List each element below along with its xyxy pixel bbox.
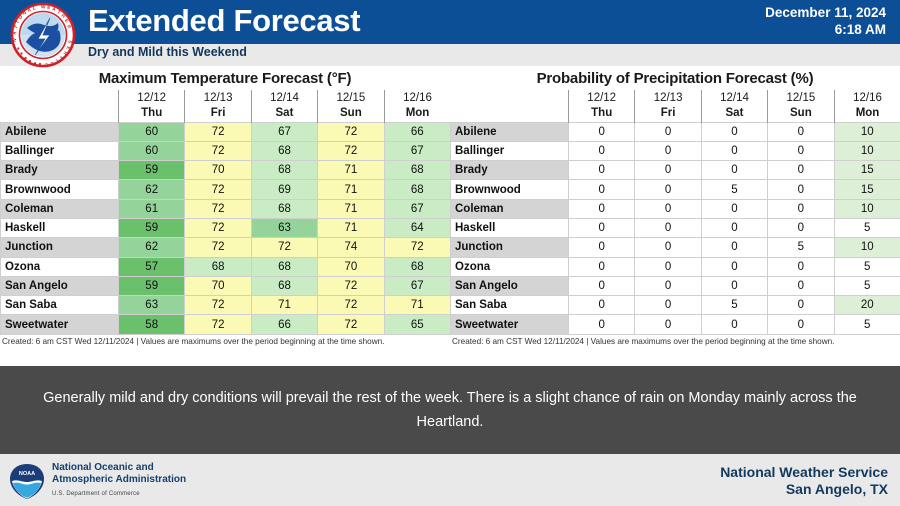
city-column-header-pop-2 — [451, 106, 569, 122]
forecast-value-cell: 10 — [834, 238, 900, 257]
table-row: San Saba005020 — [451, 296, 900, 315]
pop-col-date-4: 12/16 — [834, 90, 900, 106]
forecast-value-cell: 15 — [834, 180, 900, 199]
forecast-value-cell: 0 — [701, 199, 767, 218]
row-city-label: Sweetwater — [1, 315, 119, 334]
table-row: Brady5970687168 — [1, 161, 451, 180]
noaa-line-3: U.S. Department of Commerce — [52, 486, 186, 500]
nws-office-name: National Weather Service — [720, 464, 888, 481]
forecast-value-cell: 64 — [384, 218, 450, 237]
temperature-footnote: Created: 6 am CST Wed 12/11/2024 | Value… — [0, 335, 450, 349]
forecast-value-cell: 72 — [185, 218, 251, 237]
forecast-value-cell: 65 — [384, 315, 450, 334]
forecast-value-cell: 0 — [635, 161, 701, 180]
forecast-value-cell: 68 — [384, 161, 450, 180]
pop-col-date-1: 12/13 — [635, 90, 701, 106]
forecast-value-cell: 60 — [119, 141, 185, 160]
row-city-label: San Saba — [1, 296, 119, 315]
noaa-agency-text: National Oceanic and Atmospheric Adminis… — [52, 462, 186, 500]
forecast-value-cell: 63 — [251, 218, 317, 237]
precipitation-table-head: 12/12 12/13 12/14 12/15 12/16 Thu Fri Sa… — [451, 90, 900, 122]
forecast-value-cell: 72 — [185, 315, 251, 334]
forecast-value-cell: 0 — [701, 257, 767, 276]
forecast-value-cell: 0 — [701, 141, 767, 160]
table-row: Coleman000010 — [451, 199, 900, 218]
col-dow-4: Mon — [384, 106, 450, 122]
summary-box: Generally mild and dry conditions will p… — [0, 366, 900, 454]
forecast-value-cell: 68 — [251, 161, 317, 180]
col-dow-3: Sun — [318, 106, 384, 122]
forecast-value-cell: 0 — [569, 296, 635, 315]
forecast-value-cell: 68 — [251, 257, 317, 276]
forecast-value-cell: 72 — [318, 296, 384, 315]
forecast-tables: Maximum Temperature Forecast (°F) 12/12 … — [0, 66, 900, 366]
forecast-value-cell: 70 — [185, 276, 251, 295]
forecast-value-cell: 0 — [701, 122, 767, 141]
row-city-label: Brownwood — [1, 180, 119, 199]
forecast-value-cell: 0 — [635, 296, 701, 315]
forecast-value-cell: 66 — [251, 315, 317, 334]
noaa-line-1: National Oceanic and — [52, 462, 186, 474]
forecast-value-cell: 0 — [635, 257, 701, 276]
forecast-value-cell: 72 — [185, 141, 251, 160]
forecast-value-cell: 5 — [834, 315, 900, 334]
forecast-value-cell: 0 — [768, 218, 834, 237]
forecast-value-cell: 0 — [569, 141, 635, 160]
table-row: Abilene6072677266 — [1, 122, 451, 141]
forecast-value-cell: 68 — [251, 199, 317, 218]
forecast-value-cell: 0 — [569, 122, 635, 141]
row-city-label: San Angelo — [451, 276, 569, 295]
forecast-value-cell: 67 — [384, 141, 450, 160]
forecast-value-cell: 0 — [635, 276, 701, 295]
forecast-value-cell: 0 — [701, 218, 767, 237]
table-row: Coleman6172687167 — [1, 199, 451, 218]
precipitation-footnote: Created: 6 am CST Wed 12/11/2024 | Value… — [450, 335, 900, 349]
col-date-1: 12/13 — [185, 90, 251, 106]
forecast-value-cell: 0 — [701, 315, 767, 334]
nws-office-text: National Weather Service San Angelo, TX — [720, 464, 888, 498]
row-city-label: Brady — [1, 161, 119, 180]
forecast-value-cell: 72 — [318, 141, 384, 160]
table-row: Sweetwater5872667265 — [1, 315, 451, 334]
forecast-value-cell: 68 — [185, 257, 251, 276]
forecast-value-cell: 0 — [569, 238, 635, 257]
forecast-value-cell: 70 — [318, 257, 384, 276]
row-city-label: Brownwood — [451, 180, 569, 199]
forecast-value-cell: 72 — [185, 296, 251, 315]
col-dow-1: Fri — [185, 106, 251, 122]
noaa-seal-icon: NOAA — [8, 462, 46, 500]
subtitle: Dry and Mild this Weekend — [88, 45, 247, 59]
forecast-value-cell: 58 — [119, 315, 185, 334]
forecast-value-cell: 59 — [119, 276, 185, 295]
forecast-value-cell: 71 — [318, 199, 384, 218]
forecast-value-cell: 15 — [834, 161, 900, 180]
precipitation-table-body: Abilene000010Ballinger000010Brady000015B… — [451, 122, 900, 334]
precipitation-table: 12/12 12/13 12/14 12/15 12/16 Thu Fri Sa… — [450, 90, 900, 335]
row-city-label: Abilene — [1, 122, 119, 141]
forecast-value-cell: 0 — [768, 180, 834, 199]
col-date-3: 12/15 — [318, 90, 384, 106]
row-city-label: Brady — [451, 161, 569, 180]
forecast-value-cell: 0 — [635, 218, 701, 237]
forecast-value-cell: 0 — [569, 218, 635, 237]
forecast-value-cell: 63 — [119, 296, 185, 315]
forecast-value-cell: 0 — [768, 122, 834, 141]
forecast-value-cell: 70 — [185, 161, 251, 180]
forecast-value-cell: 62 — [119, 180, 185, 199]
table-row: Ozona5768687068 — [1, 257, 451, 276]
row-city-label: San Angelo — [1, 276, 119, 295]
forecast-value-cell: 0 — [569, 315, 635, 334]
pop-col-date-0: 12/12 — [569, 90, 635, 106]
forecast-value-cell: 0 — [701, 161, 767, 180]
forecast-value-cell: 0 — [635, 180, 701, 199]
header-row-dates-pop: 12/12 12/13 12/14 12/15 12/16 — [451, 90, 900, 106]
col-date-4: 12/16 — [384, 90, 450, 106]
pop-col-dow-3: Sun — [768, 106, 834, 122]
table-row: San Angelo00005 — [451, 276, 900, 295]
forecast-value-cell: 5 — [768, 238, 834, 257]
forecast-value-cell: 0 — [569, 180, 635, 199]
pop-col-date-3: 12/15 — [768, 90, 834, 106]
temperature-table-head: 12/12 12/13 12/14 12/15 12/16 Thu Fri Sa… — [1, 90, 451, 122]
svg-text:NOAA: NOAA — [19, 471, 35, 477]
forecast-value-cell: 72 — [185, 122, 251, 141]
noaa-line-2: Atmospheric Administration — [52, 474, 186, 486]
header-datetime: December 11, 2024 6:18 AM — [765, 4, 886, 38]
summary-text: Generally mild and dry conditions will p… — [22, 386, 878, 434]
forecast-value-cell: 10 — [834, 122, 900, 141]
temperature-panel-title: Maximum Temperature Forecast (°F) — [0, 66, 450, 90]
forecast-value-cell: 59 — [119, 218, 185, 237]
pop-col-dow-0: Thu — [569, 106, 635, 122]
table-row: Brownwood6272697168 — [1, 180, 451, 199]
row-city-label: San Saba — [451, 296, 569, 315]
row-city-label: Sweetwater — [451, 315, 569, 334]
forecast-value-cell: 0 — [635, 199, 701, 218]
row-city-label: Coleman — [451, 199, 569, 218]
row-city-label: Junction — [1, 238, 119, 257]
header-time: 6:18 AM — [765, 21, 886, 38]
table-row: Ballinger6072687267 — [1, 141, 451, 160]
forecast-value-cell: 71 — [384, 296, 450, 315]
forecast-value-cell: 72 — [318, 276, 384, 295]
forecast-value-cell: 66 — [384, 122, 450, 141]
forecast-value-cell: 0 — [768, 141, 834, 160]
row-city-label: Abilene — [451, 122, 569, 141]
forecast-value-cell: 0 — [768, 161, 834, 180]
forecast-value-cell: 0 — [768, 296, 834, 315]
forecast-value-cell: 0 — [635, 315, 701, 334]
col-dow-0: Thu — [119, 106, 185, 122]
city-column-header-pop — [451, 90, 569, 106]
forecast-value-cell: 57 — [119, 257, 185, 276]
subheader-bar: Dry and Mild this Weekend — [0, 44, 900, 66]
footer-bar: NOAA National Oceanic and Atmospheric Ad… — [0, 454, 900, 506]
forecast-value-cell: 68 — [251, 141, 317, 160]
table-row: Haskell00005 — [451, 218, 900, 237]
row-city-label: Ozona — [451, 257, 569, 276]
forecast-value-cell: 5 — [834, 218, 900, 237]
header-bar: NATIONAL WEATHER SERVICE N A T I O N A L… — [0, 0, 900, 44]
precipitation-panel-title: Probability of Precipitation Forecast (%… — [450, 66, 900, 90]
forecast-value-cell: 71 — [318, 218, 384, 237]
page-title: Extended Forecast — [88, 0, 360, 43]
forecast-value-cell: 5 — [701, 180, 767, 199]
city-column-header — [1, 90, 119, 106]
forecast-value-cell: 0 — [768, 276, 834, 295]
row-city-label: Ballinger — [1, 141, 119, 160]
row-city-label: Ballinger — [451, 141, 569, 160]
forecast-value-cell: 0 — [635, 238, 701, 257]
header-row-dates: 12/12 12/13 12/14 12/15 12/16 — [1, 90, 451, 106]
temperature-table: 12/12 12/13 12/14 12/15 12/16 Thu Fri Sa… — [0, 90, 451, 335]
forecast-value-cell: 0 — [635, 122, 701, 141]
precipitation-panel: Probability of Precipitation Forecast (%… — [450, 66, 900, 366]
forecast-value-cell: 69 — [251, 180, 317, 199]
forecast-value-cell: 0 — [569, 257, 635, 276]
table-row: Junction000510 — [451, 238, 900, 257]
forecast-value-cell: 0 — [701, 238, 767, 257]
header-date: December 11, 2024 — [765, 4, 886, 21]
table-row: Brady000015 — [451, 161, 900, 180]
forecast-value-cell: 68 — [384, 180, 450, 199]
forecast-value-cell: 20 — [834, 296, 900, 315]
forecast-value-cell: 67 — [251, 122, 317, 141]
forecast-value-cell: 72 — [185, 238, 251, 257]
table-row: Brownwood005015 — [451, 180, 900, 199]
table-row: Abilene000010 — [451, 122, 900, 141]
forecast-value-cell: 60 — [119, 122, 185, 141]
row-city-label: Haskell — [1, 218, 119, 237]
pop-col-dow-4: Mon — [834, 106, 900, 122]
nws-seal-icon: NATIONAL WEATHER SERVICE N A T I O N A L… — [6, 2, 80, 68]
table-row: Sweetwater00005 — [451, 315, 900, 334]
forecast-value-cell: 71 — [318, 180, 384, 199]
forecast-value-cell: 0 — [768, 315, 834, 334]
forecast-value-cell: 0 — [768, 257, 834, 276]
temperature-panel: Maximum Temperature Forecast (°F) 12/12 … — [0, 66, 450, 366]
forecast-value-cell: 0 — [569, 276, 635, 295]
table-row: San Saba6372717271 — [1, 296, 451, 315]
forecast-value-cell: 0 — [569, 199, 635, 218]
col-date-2: 12/14 — [251, 90, 317, 106]
forecast-value-cell: 0 — [635, 141, 701, 160]
forecast-value-cell: 72 — [384, 238, 450, 257]
pop-col-dow-1: Fri — [635, 106, 701, 122]
forecast-value-cell: 74 — [318, 238, 384, 257]
forecast-value-cell: 0 — [569, 161, 635, 180]
temperature-table-body: Abilene6072677266Ballinger6072687267Brad… — [1, 122, 451, 334]
table-row: Ozona00005 — [451, 257, 900, 276]
forecast-value-cell: 72 — [185, 180, 251, 199]
forecast-value-cell: 72 — [251, 238, 317, 257]
forecast-value-cell: 61 — [119, 199, 185, 218]
forecast-value-cell: 72 — [185, 199, 251, 218]
forecast-value-cell: 10 — [834, 199, 900, 218]
forecast-value-cell: 0 — [701, 276, 767, 295]
forecast-value-cell: 71 — [251, 296, 317, 315]
city-column-header-2 — [1, 106, 119, 122]
forecast-value-cell: 72 — [318, 315, 384, 334]
forecast-value-cell: 67 — [384, 199, 450, 218]
table-row: Haskell5972637164 — [1, 218, 451, 237]
forecast-value-cell: 5 — [834, 257, 900, 276]
forecast-value-cell: 5 — [701, 296, 767, 315]
pop-col-date-2: 12/14 — [701, 90, 767, 106]
forecast-value-cell: 62 — [119, 238, 185, 257]
row-city-label: Haskell — [451, 218, 569, 237]
nws-office-location: San Angelo, TX — [720, 481, 888, 498]
row-city-label: Coleman — [1, 199, 119, 218]
table-row: San Angelo5970687267 — [1, 276, 451, 295]
col-date-0: 12/12 — [119, 90, 185, 106]
forecast-graphic: NATIONAL WEATHER SERVICE N A T I O N A L… — [0, 0, 900, 506]
forecast-value-cell: 72 — [318, 122, 384, 141]
forecast-value-cell: 59 — [119, 161, 185, 180]
forecast-value-cell: 71 — [318, 161, 384, 180]
header-row-days: Thu Fri Sat Sun Mon — [1, 106, 451, 122]
forecast-value-cell: 5 — [834, 276, 900, 295]
forecast-value-cell: 10 — [834, 141, 900, 160]
forecast-value-cell: 68 — [384, 257, 450, 276]
row-city-label: Junction — [451, 238, 569, 257]
col-dow-2: Sat — [251, 106, 317, 122]
forecast-value-cell: 68 — [251, 276, 317, 295]
table-row: Ballinger000010 — [451, 141, 900, 160]
pop-col-dow-2: Sat — [701, 106, 767, 122]
row-city-label: Ozona — [1, 257, 119, 276]
forecast-value-cell: 0 — [768, 199, 834, 218]
table-row: Junction6272727472 — [1, 238, 451, 257]
forecast-value-cell: 67 — [384, 276, 450, 295]
header-row-days-pop: Thu Fri Sat Sun Mon — [451, 106, 900, 122]
